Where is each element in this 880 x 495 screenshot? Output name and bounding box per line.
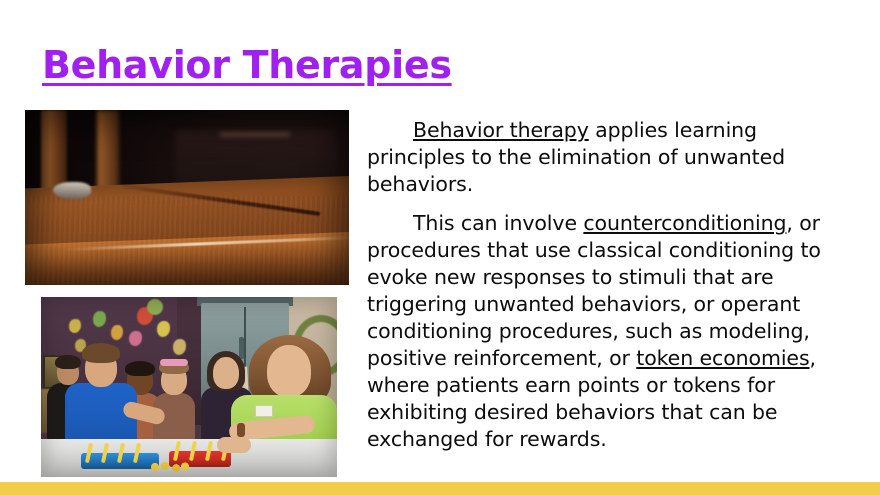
photo-1-content bbox=[25, 110, 349, 285]
page-title: Behavior Therapies bbox=[42, 45, 452, 87]
photo-2-content bbox=[41, 297, 337, 477]
paragraph-2-intro: This can involve bbox=[413, 211, 583, 235]
photo-2-vignette bbox=[41, 297, 337, 477]
term-counterconditioning: counterconditioning bbox=[583, 211, 786, 235]
term-token-economies: token economies bbox=[636, 346, 809, 370]
bottom-accent-bar bbox=[0, 482, 880, 495]
paragraph-1: Behavior therapy applies learning princi… bbox=[367, 117, 853, 198]
term-behavior-therapy: Behavior therapy bbox=[413, 118, 589, 142]
slide-canvas: Behavior Therapies bbox=[0, 0, 880, 495]
paragraph-2: This can involve counterconditioning, or… bbox=[367, 210, 853, 453]
slide-body-text: Behavior therapy applies learning princi… bbox=[367, 117, 853, 453]
photo-1-vignette bbox=[25, 110, 349, 285]
classroom-token-economy-photo bbox=[41, 297, 337, 477]
mouse-on-wooden-table-photo bbox=[25, 110, 349, 285]
